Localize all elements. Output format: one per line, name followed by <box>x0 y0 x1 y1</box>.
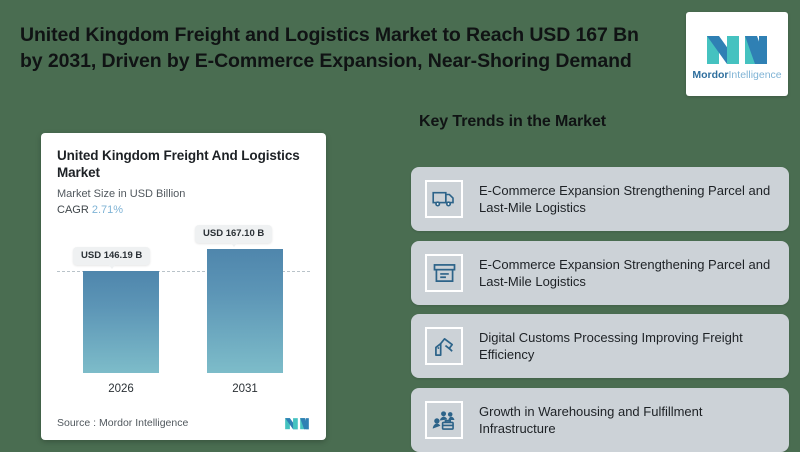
bar-label-2031: USD 167.10 B <box>195 225 272 243</box>
chart-cagr: CAGR 2.71% <box>57 204 310 216</box>
infographic-page: United Kingdom Freight and Logistics Mar… <box>0 0 800 452</box>
trends-heading: Key Trends in the Market <box>419 113 606 131</box>
cagr-label: CAGR <box>57 204 89 216</box>
chart-subtitle: Market Size in USD Billion <box>57 188 310 200</box>
team-icon <box>425 401 463 439</box>
brand-logo-text: MordorIntelligence <box>692 69 781 81</box>
mordor-logo-mark-small-icon <box>284 415 310 430</box>
x-tick-2026: 2026 <box>83 383 159 395</box>
trend-label-1: E-Commerce Expansion Strengthening Parce… <box>479 182 777 217</box>
brand-name-bold: Mordor <box>692 69 728 81</box>
trend-label-3: Digital Customs Processing Improving Fre… <box>479 329 777 364</box>
chart-title: United Kingdom Freight And Logistics Mar… <box>57 147 310 182</box>
bar-2026 <box>83 271 159 373</box>
trend-label-4: Growth in Warehousing and Fulfillment In… <box>479 403 777 438</box>
bar-2031 <box>207 249 283 373</box>
page-title: United Kingdom Freight and Logistics Mar… <box>20 22 660 74</box>
trend-label-2: E-Commerce Expansion Strengthening Parce… <box>479 256 777 291</box>
brand-name-light: Intelligence <box>729 69 782 81</box>
chart-source-row: Source : Mordor Intelligence <box>57 415 310 430</box>
trend-card-4[interactable]: Growth in Warehousing and Fulfillment In… <box>411 388 789 452</box>
bar-chart-plot: USD 146.19 B USD 167.10 B 2026 2031 <box>57 225 310 397</box>
bar-label-2026: USD 146.19 B <box>73 247 150 265</box>
brand-logo: MordorIntelligence <box>686 12 788 96</box>
cagr-value: 2.71% <box>92 204 123 216</box>
chart-card: United Kingdom Freight And Logistics Mar… <box>41 133 326 440</box>
truck-icon <box>425 180 463 218</box>
mordor-logo-mark-icon <box>705 28 769 66</box>
trend-card-3[interactable]: Digital Customs Processing Improving Fre… <box>411 314 789 378</box>
x-tick-2031: 2031 <box>207 383 283 395</box>
trend-card-1[interactable]: E-Commerce Expansion Strengthening Parce… <box>411 167 789 231</box>
crane-icon <box>425 327 463 365</box>
source-label: Source : Mordor Intelligence <box>57 417 188 429</box>
box-icon <box>425 254 463 292</box>
trend-card-2[interactable]: E-Commerce Expansion Strengthening Parce… <box>411 241 789 305</box>
